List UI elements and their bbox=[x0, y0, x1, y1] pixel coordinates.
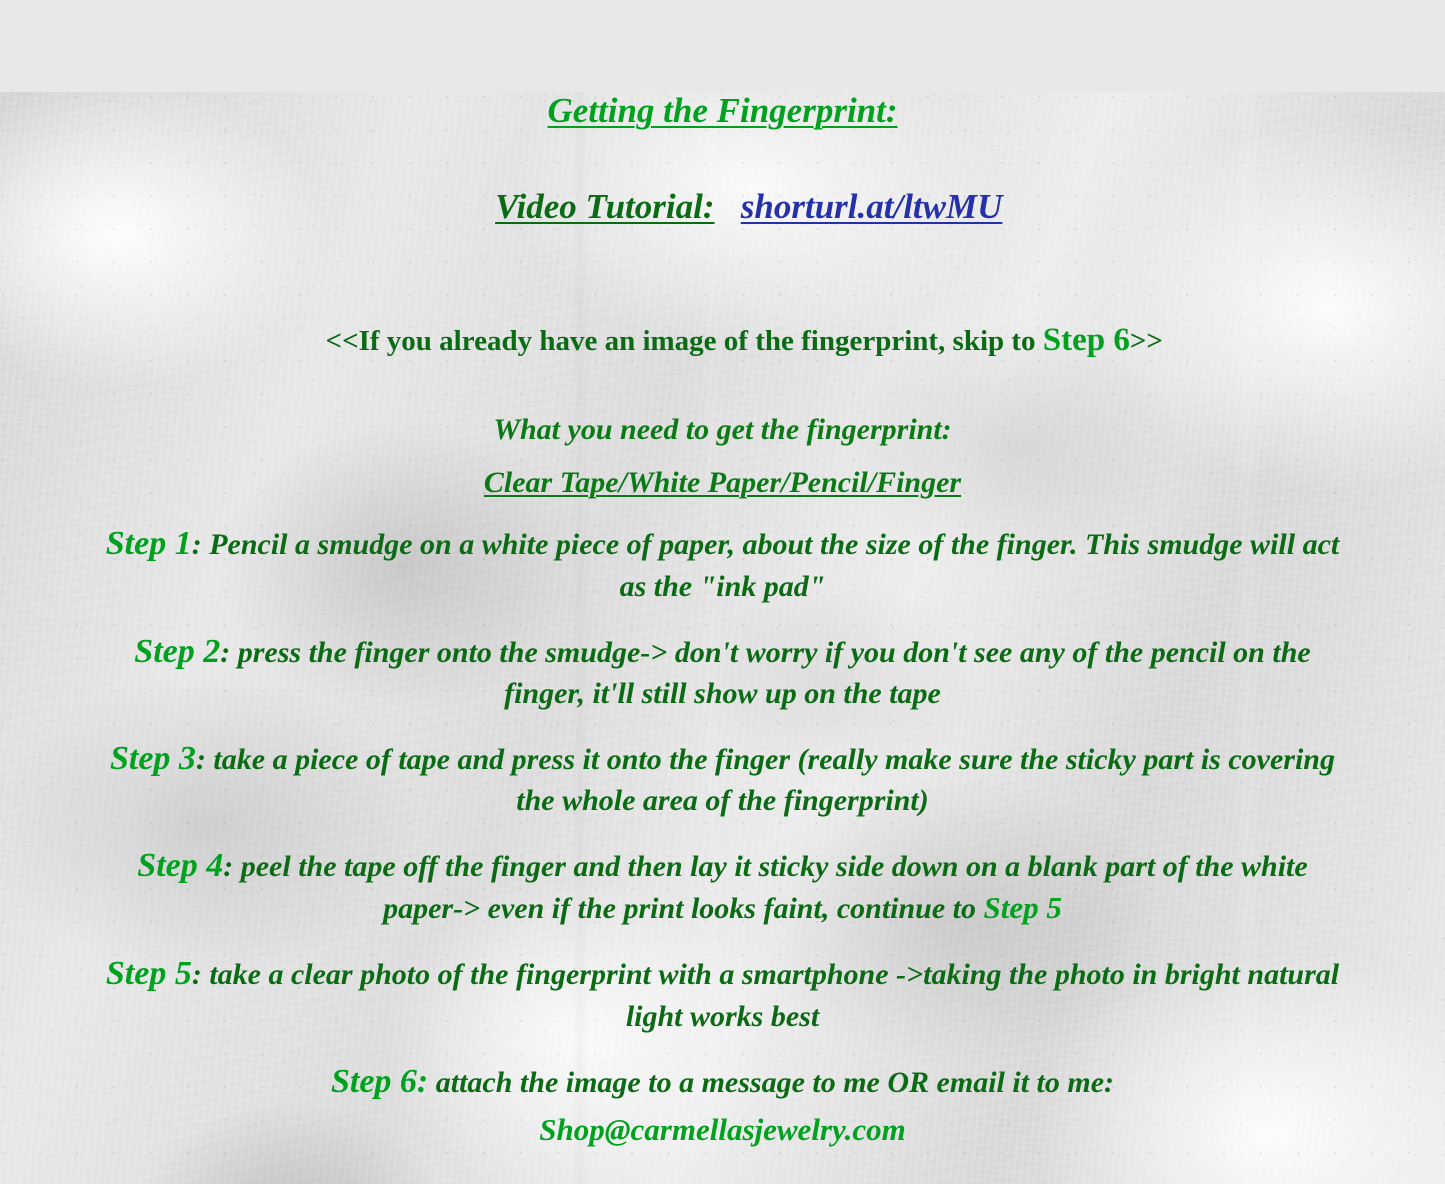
skip-note-after: >> bbox=[1130, 325, 1163, 357]
step-3: Step 3: take a piece of tape and press i… bbox=[60, 737, 1385, 820]
step-4-step5-reference: Step 5 bbox=[984, 890, 1062, 925]
skip-to-step-note: <<If you already have an image of the fi… bbox=[60, 292, 1385, 388]
step-5: Step 5: take a clear photo of the finger… bbox=[60, 952, 1385, 1035]
step-3-label: Step 3 bbox=[110, 740, 196, 777]
video-tutorial-label: Video Tutorial: bbox=[495, 187, 714, 226]
step-4-body: : peel the tape off the finger and then … bbox=[223, 850, 1307, 925]
step-1-body: : Pencil a smudge on a white piece of pa… bbox=[192, 528, 1340, 602]
step-4: Step 4: peel the tape off the finger and… bbox=[60, 844, 1385, 928]
step-6: Step 6: attach the image to a message to… bbox=[60, 1060, 1385, 1104]
step-1: Step 1: Pencil a smudge on a white piece… bbox=[60, 522, 1385, 605]
step-2: Step 2: press the finger onto the smudge… bbox=[60, 630, 1385, 713]
video-tutorial-row: Video Tutorial: shorturl.at/ltwMU bbox=[60, 151, 1385, 262]
step-5-body: : take a clear photo of the fingerprint … bbox=[192, 958, 1339, 1032]
poster-content: Getting the Fingerprint: Video Tutorial:… bbox=[0, 92, 1445, 1147]
supplies-list: Clear Tape/White Paper/Pencil/Finger bbox=[60, 467, 1385, 499]
tutorial-gap-spacer bbox=[715, 187, 741, 226]
step-6-label: Step 6: bbox=[331, 1063, 428, 1100]
step-1-label: Step 1 bbox=[106, 525, 192, 562]
video-tutorial-link[interactable]: shorturl.at/ltwMU bbox=[741, 187, 1003, 226]
step-5-label: Step 5 bbox=[106, 955, 192, 992]
what-you-need-heading: What you need to get the fingerprint: bbox=[60, 414, 1385, 446]
step-4-label: Step 4 bbox=[137, 847, 223, 884]
instruction-poster: Getting the Fingerprint: Video Tutorial:… bbox=[0, 92, 1445, 1184]
step-2-label: Step 2 bbox=[134, 633, 220, 670]
skip-note-step-highlight: Step 6 bbox=[1043, 322, 1130, 358]
step-6-body: attach the image to a message to me OR e… bbox=[428, 1066, 1114, 1099]
step-2-body: : press the finger onto the smudge-> don… bbox=[220, 636, 1310, 710]
skip-note-before: <<If you already have an image of the fi… bbox=[326, 325, 1043, 357]
contact-email[interactable]: Shop@carmellasjewelry.com bbox=[60, 1114, 1385, 1147]
page-title: Getting the Fingerprint: bbox=[60, 92, 1385, 129]
step-3-body: : take a piece of tape and press it onto… bbox=[196, 743, 1335, 817]
